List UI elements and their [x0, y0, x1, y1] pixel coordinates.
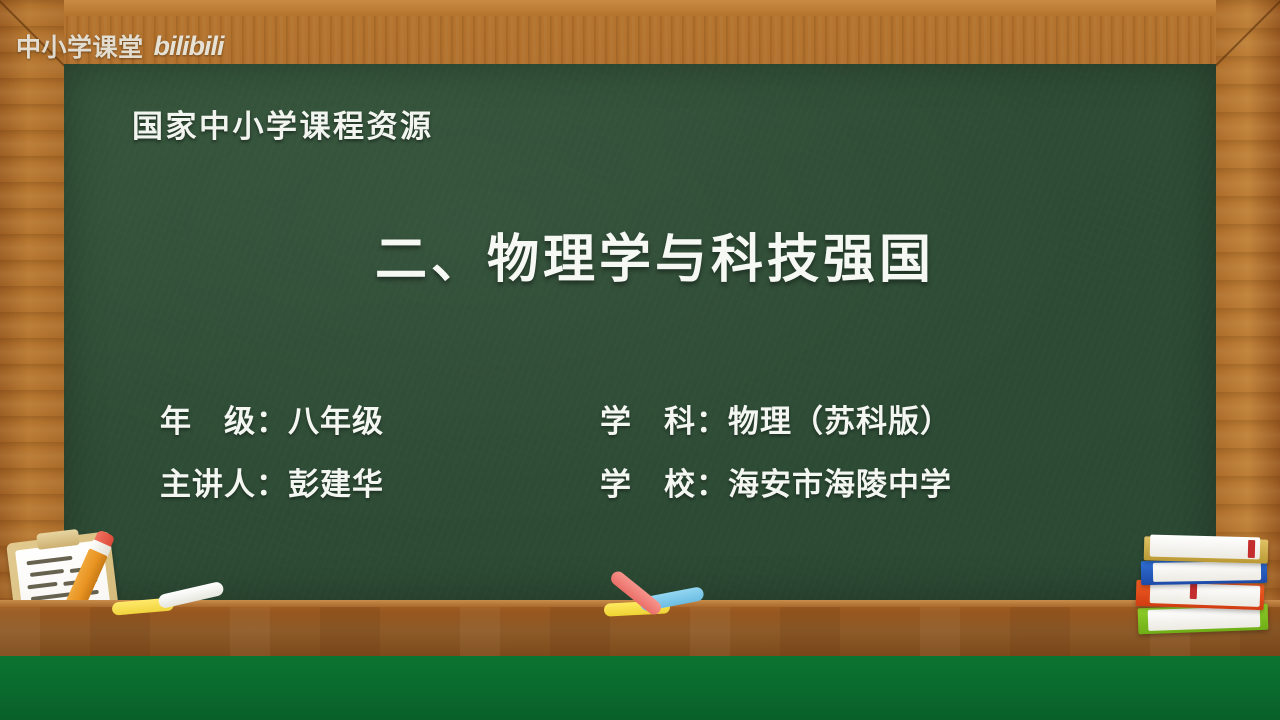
- info-value-grade: 八年级: [288, 404, 384, 439]
- course-source-subtitle: 国家中小学课程资源: [132, 101, 434, 146]
- info-label-school: 学 校：: [600, 467, 728, 502]
- info-row-school: 学 校：海安市海陵中学: [600, 459, 952, 504]
- info-label-lecturer: 主讲人：: [160, 467, 288, 502]
- book-stack-decoration: [1136, 530, 1272, 640]
- bilibili-logo-icon: bilibili: [154, 31, 224, 62]
- info-row-subject: 学 科：物理（苏科版）: [600, 396, 952, 441]
- book-blue-pages: [1153, 561, 1261, 582]
- info-value-school: 海安市海陵中学: [728, 467, 952, 502]
- info-label-grade: 年 级：: [160, 404, 288, 439]
- page-title: 二、物理学与科技强国: [0, 217, 1280, 292]
- info-row-lecturer: 主讲人：彭建华: [160, 459, 600, 504]
- frame-top-edge: [0, 0, 1280, 16]
- info-value-lecturer: 彭建华: [288, 467, 384, 502]
- book-green-pages: [1148, 606, 1261, 631]
- info-value-subject: 物理（苏科版）: [728, 404, 952, 439]
- slide-canvas: 中小学课堂 bilibili 国家中小学课程资源 二、物理学与科技强国 年 级：…: [0, 0, 1280, 720]
- bottom-green-bar: [0, 656, 1280, 720]
- note-line: [27, 582, 57, 590]
- lesson-info-grid: 年 级：八年级 学 科：物理（苏科版） 主讲人：彭建华 学 校：海安市海陵中学: [160, 396, 952, 504]
- book-tan-bookmark: [1248, 540, 1255, 558]
- note-line: [26, 556, 72, 566]
- book-red-bookmark: [1190, 582, 1198, 599]
- watermark: 中小学课堂 bilibili: [16, 28, 224, 64]
- book-red-pages: [1150, 582, 1261, 607]
- book-tan-pages: [1150, 535, 1261, 560]
- info-label-subject: 学 科：: [600, 404, 728, 439]
- watermark-channel-name: 中小学课堂: [16, 28, 144, 64]
- note-line: [30, 569, 64, 577]
- info-row-grade: 年 级：八年级: [160, 396, 600, 441]
